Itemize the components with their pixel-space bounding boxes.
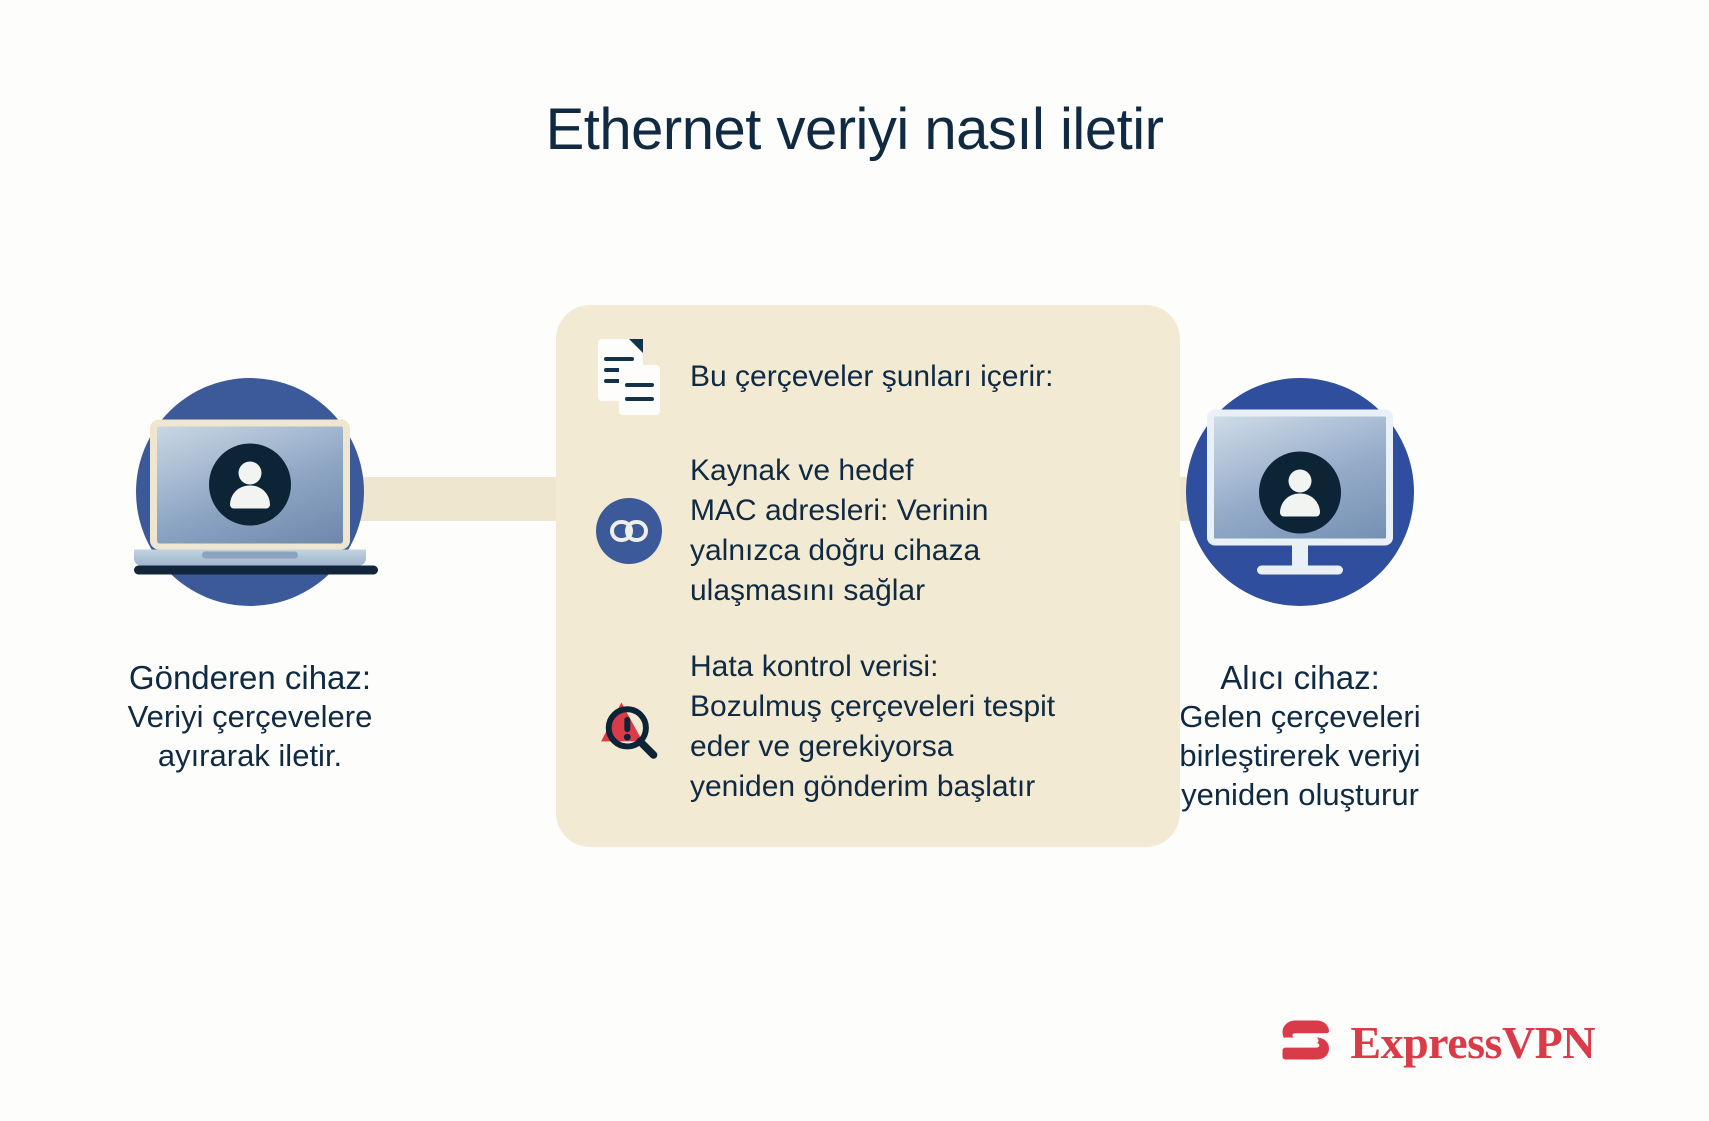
expressvpn-mark-icon [1279,1017,1335,1069]
avatar-head [1289,469,1312,492]
bullet-3-line-1: Hata kontrol verisi: [690,647,1055,687]
list-item: Hata kontrol verisi: Bozulmuş çerçeveler… [596,647,1150,807]
avatar-head [239,462,262,485]
list-item: Bu çerçeveler şunları içerir: [596,339,1150,415]
list-item-text: Hata kontrol verisi: Bozulmuş çerçeveler… [690,647,1055,807]
avatar [1259,451,1341,533]
sender-label: Gönderen cihaz: [90,658,410,697]
sender-node: Gönderen cihaz: Veriyi çerçevelere ayıra… [90,378,410,775]
receiver-desc-line1: Gelen çerçeveleri [1140,697,1460,736]
bullet-2-line-2: MAC adresleri: Verinin [690,491,988,531]
avatar-body [230,486,270,509]
infographic-canvas: Ethernet veriyi nasıl iletir Gönderen ci… [0,0,1709,1121]
bullet-2-line-4: ulaşmasını sağlar [690,571,988,611]
bullet-3-line-4: yeniden gönderim başlatır [690,767,1055,807]
bullet-1-line-1: Bu çerçeveler şunları içerir: [690,357,1053,397]
sender-caption: Gönderen cihaz: Veriyi çerçevelere ayıra… [90,658,410,775]
expressvpn-wordmark: ExpressVPN [1350,1016,1595,1069]
receiver-desc-line3: yeniden oluşturur [1140,775,1460,814]
page-title: Ethernet veriyi nasıl iletir [0,96,1709,163]
sender-device-illustration [136,378,364,606]
sender-desc-line2: ayırarak iletir. [90,736,410,775]
list-item-text: Kaynak ve hedef MAC adresleri: Verinin y… [690,451,988,611]
list-item: Kaynak ve hedef MAC adresleri: Verinin y… [596,451,1150,611]
monitor-icon [1200,410,1400,575]
document-icon [596,339,662,415]
bullet-2-line-3: yalnızca doğru cihaza [690,531,988,571]
receiver-label: Alıcı cihaz: [1140,658,1460,697]
expressvpn-logo: ExpressVPN [1279,1016,1595,1069]
avatar [209,444,291,526]
sender-desc-line1: Veriyi çerçevelere [90,697,410,736]
laptop-icon [134,419,366,574]
list-item-text: Bu çerçeveler şunları içerir: [690,357,1053,397]
link-chain-icon [596,498,662,564]
bullet-3-line-3: eder ve gerekiyorsa [690,727,1055,767]
bullet-3-line-2: Bozulmuş çerçeveleri tespit [690,687,1055,727]
receiver-node: Alıcı cihaz: Gelen çerçeveleri birleştir… [1140,378,1460,814]
error-warning-magnifier-icon [596,688,662,766]
receiver-desc-line2: birleştirerek veriyi [1140,736,1460,775]
receiver-device-illustration [1186,378,1414,606]
avatar-body [1280,493,1320,516]
bullet-2-line-1: Kaynak ve hedef [690,451,988,491]
receiver-caption: Alıcı cihaz: Gelen çerçeveleri birleştir… [1140,658,1460,814]
frame-contents-panel: Bu çerçeveler şunları içerir: Kaynak ve … [556,305,1180,847]
